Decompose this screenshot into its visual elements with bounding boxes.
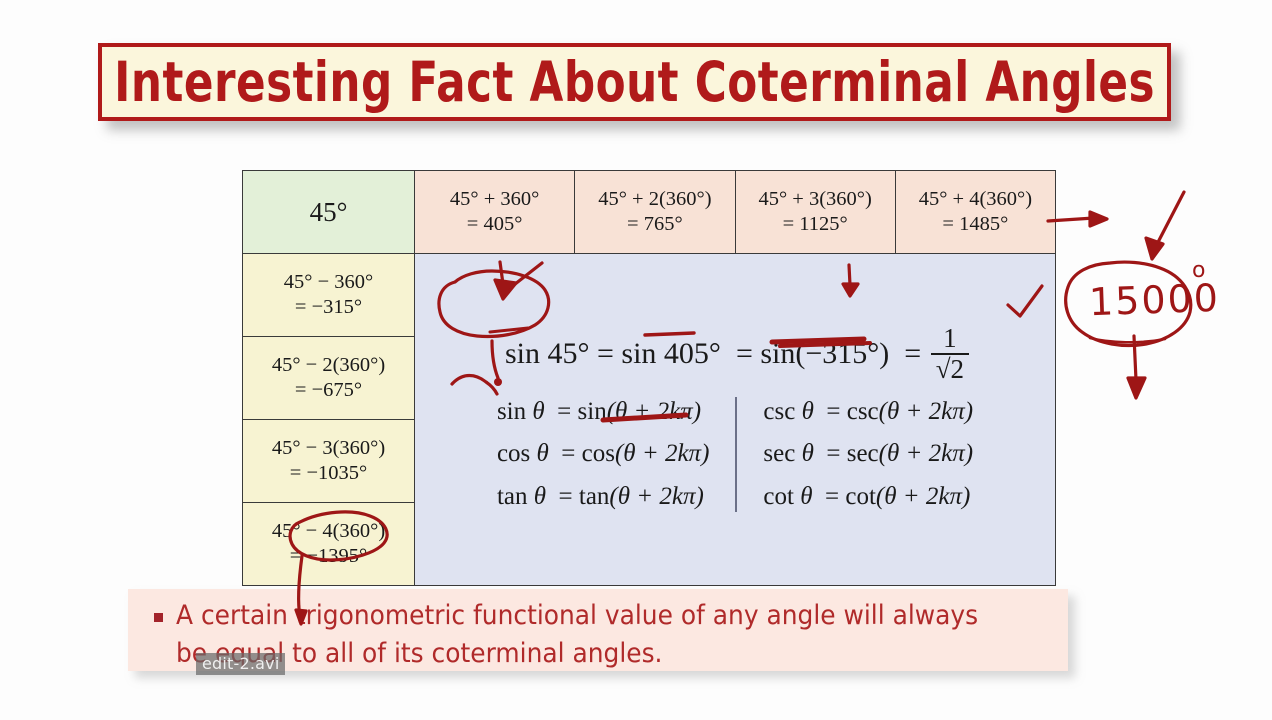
identity-cot-equals: = bbox=[825, 483, 839, 510]
identity-cos: cos θ = cos(θ + 2kπ) bbox=[497, 439, 709, 470]
arrow-below-15000-head bbox=[1128, 378, 1145, 398]
underline-inside-15000 bbox=[1090, 338, 1165, 342]
identity-cot-rhs-arg: (θ + 2kπ) bbox=[876, 483, 970, 510]
identity-csc-rhs-fn: csc bbox=[847, 398, 879, 425]
identity-tan: tan θ = tan(θ + 2kπ) bbox=[497, 482, 709, 513]
identity-tan-equals: = bbox=[559, 483, 573, 510]
identity-cot-theta: θ bbox=[800, 483, 812, 510]
equation-equals-1: = bbox=[597, 337, 614, 370]
positive-expression-1: 45° + 360° bbox=[418, 187, 571, 212]
table-row-positive: 45° 45° + 360° = 405° 45° + 2(360°) = 76… bbox=[243, 171, 1056, 254]
identity-csc-fn: csc bbox=[763, 398, 795, 425]
positive-coterminal-cell-1: 45° + 360° = 405° bbox=[415, 171, 575, 254]
page-title: Interesting Fact About Coterminal Angles bbox=[114, 50, 1155, 115]
negative-coterminal-cell-4: 45° − 4(360°) = −1395° bbox=[243, 503, 415, 586]
identity-cot-rhs-fn: cot bbox=[845, 483, 876, 510]
identity-column-left: sin θ = sin(θ + 2kπ) cos θ = cos(θ + 2kπ… bbox=[471, 397, 737, 513]
identity-column-right: csc θ = csc(θ + 2kπ) sec θ = sec(θ + 2kπ… bbox=[737, 397, 999, 513]
identity-cos-theta: θ bbox=[537, 440, 549, 467]
identity-sec: sec θ = sec(θ + 2kπ) bbox=[763, 439, 973, 470]
identity-sin-equals: = bbox=[557, 398, 571, 425]
negative-coterminal-cell-1: 45° − 360° = −315° bbox=[243, 254, 415, 337]
identity-sin: sin θ = sin(θ + 2kπ) bbox=[497, 397, 709, 428]
arrow-into-15000-head bbox=[1146, 238, 1163, 259]
identity-sin-fn: sin bbox=[497, 398, 526, 425]
bullet-row: A certain trigonometric functional value… bbox=[154, 597, 1050, 672]
identity-sec-equals: = bbox=[826, 440, 840, 467]
identity-grid: sin θ = sin(θ + 2kπ) cos θ = cos(θ + 2kπ… bbox=[418, 391, 1052, 523]
arrow-right-of-1485-head bbox=[1090, 212, 1107, 226]
fraction-numerator: 1 bbox=[938, 325, 962, 353]
identity-cos-rhs-arg: (θ + 2kπ) bbox=[615, 440, 709, 467]
identity-cos-fn: cos bbox=[497, 440, 530, 467]
equation-equals-2: = bbox=[736, 337, 753, 370]
negative-result-4: = −1395° bbox=[246, 544, 411, 569]
negative-result-3: = −1035° bbox=[246, 461, 411, 486]
video-filename-watermark: edit-2.avi bbox=[196, 653, 285, 675]
identity-sec-rhs-fn: sec bbox=[847, 440, 879, 467]
slide-title-banner: Interesting Fact About Coterminal Angles bbox=[98, 43, 1171, 121]
positive-result-1: = 405° bbox=[418, 212, 571, 237]
table-row-negative-1: 45° − 360° = −315° sin 45° = sin 405° = … bbox=[243, 254, 1056, 337]
equation-fraction: 1 √2 bbox=[931, 325, 969, 383]
arrow-below-15000-shaft bbox=[1134, 336, 1136, 380]
negative-expression-3: 45° − 3(360°) bbox=[246, 436, 411, 461]
identity-csc-theta: θ bbox=[802, 398, 814, 425]
equation-equals-3: = bbox=[904, 337, 921, 370]
identity-tan-rhs-arg: (θ + 2kπ) bbox=[609, 483, 703, 510]
equation-part-3: sin(−315°) bbox=[760, 337, 889, 370]
formula-wrap: sin 45° = sin 405° = sin(−315°) = 1 √2 s… bbox=[418, 307, 1052, 533]
base-angle-cell: 45° bbox=[243, 171, 415, 254]
formula-panel: sin 45° = sin 405° = sin(−315°) = 1 √2 s… bbox=[415, 254, 1056, 586]
identity-sin-rhs-arg: (θ + 2kπ) bbox=[607, 398, 701, 425]
positive-expression-3: 45° + 3(360°) bbox=[739, 187, 892, 212]
identity-sec-rhs-arg: (θ + 2kπ) bbox=[879, 440, 973, 467]
positive-coterminal-cell-3: 45° + 3(360°) = 1125° bbox=[735, 171, 895, 254]
bullet-marker-icon bbox=[154, 613, 163, 622]
coterminal-angles-table: 45° 45° + 360° = 405° 45° + 2(360°) = 76… bbox=[242, 170, 1056, 586]
identity-cos-rhs-fn: cos bbox=[582, 440, 615, 467]
handwritten-number: 15000 bbox=[1088, 276, 1220, 325]
negative-result-2: = −675° bbox=[246, 378, 411, 403]
identity-sin-theta: θ bbox=[532, 398, 544, 425]
arrow-into-15000-shaft bbox=[1155, 192, 1184, 248]
positive-result-2: = 765° bbox=[578, 212, 731, 237]
identity-sec-fn: sec bbox=[763, 440, 795, 467]
identity-sin-rhs-fn: sin bbox=[578, 398, 607, 425]
fraction-denominator: √2 bbox=[931, 353, 969, 383]
equation-part-2: sin 405° bbox=[621, 337, 721, 370]
identity-sec-theta: θ bbox=[802, 440, 814, 467]
identity-csc: csc θ = csc(θ + 2kπ) bbox=[763, 397, 973, 428]
bullet-text: A certain trigonometric functional value… bbox=[176, 597, 998, 672]
identity-csc-equals: = bbox=[826, 398, 840, 425]
identity-csc-rhs-arg: (θ + 2kπ) bbox=[879, 398, 973, 425]
identity-tan-theta: θ bbox=[534, 483, 546, 510]
positive-coterminal-cell-4: 45° + 4(360°) = 1485° bbox=[895, 171, 1055, 254]
equation-part-1: sin 45° bbox=[505, 337, 590, 370]
positive-coterminal-cell-2: 45° + 2(360°) = 765° bbox=[575, 171, 735, 254]
negative-coterminal-cell-3: 45° − 3(360°) = −1035° bbox=[243, 420, 415, 503]
identity-tan-fn: tan bbox=[497, 483, 528, 510]
positive-expression-2: 45° + 2(360°) bbox=[578, 187, 731, 212]
positive-expression-4: 45° + 4(360°) bbox=[899, 187, 1052, 212]
identity-cos-equals: = bbox=[561, 440, 575, 467]
positive-result-3: = 1125° bbox=[739, 212, 892, 237]
main-equation: sin 45° = sin 405° = sin(−315°) = 1 √2 bbox=[418, 315, 1052, 391]
identity-tan-rhs-fn: tan bbox=[579, 483, 610, 510]
negative-expression-1: 45° − 360° bbox=[246, 270, 411, 295]
negative-result-1: = −315° bbox=[246, 295, 411, 320]
identity-cot: cot θ = cot(θ + 2kπ) bbox=[763, 482, 973, 513]
identity-cot-fn: cot bbox=[763, 483, 794, 510]
negative-expression-4: 45° − 4(360°) bbox=[246, 519, 411, 544]
negative-expression-2: 45° − 2(360°) bbox=[246, 353, 411, 378]
handwritten-degree-symbol: o bbox=[1192, 258, 1205, 283]
positive-result-4: = 1485° bbox=[899, 212, 1052, 237]
negative-coterminal-cell-2: 45° − 2(360°) = −675° bbox=[243, 337, 415, 420]
